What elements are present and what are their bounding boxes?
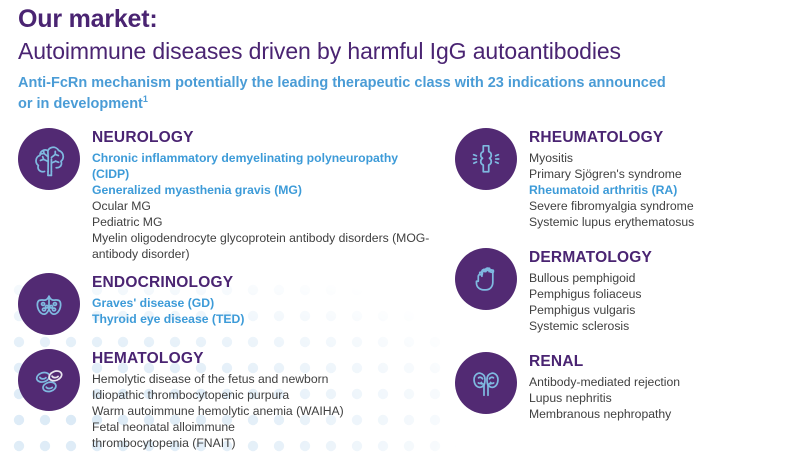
- section-body: ENDOCRINOLOGY Graves' disease (GD) Thyro…: [92, 273, 438, 327]
- page-subtitle-main: Autoimmune diseases driven by harmful Ig…: [18, 37, 788, 67]
- indication-list: Antibody-mediated rejection Lupus nephri…: [529, 374, 795, 422]
- indication-list: Chronic inflammatory demyelinating polyn…: [92, 150, 438, 263]
- section-renal: RENAL Antibody-mediated rejection Lupus …: [455, 352, 795, 422]
- list-item: Idiopathic thrombocytopenic purpura: [92, 387, 438, 403]
- list-item: Lupus nephritis: [529, 390, 795, 406]
- list-item: Ocular MG: [92, 198, 438, 214]
- section-title: NEUROLOGY: [92, 129, 438, 148]
- list-item: Myelin oligodendrocyte glycoprotein anti…: [92, 230, 438, 262]
- section-body: HEMATOLOGY Hemolytic disease of the fetu…: [92, 349, 438, 451]
- section-title: DERMATOLOGY: [529, 249, 795, 268]
- kidneys-icon: [455, 352, 517, 414]
- list-item: Myositis: [529, 150, 795, 166]
- section-title: HEMATOLOGY: [92, 350, 438, 369]
- list-item: Severe fibromyalgia syndrome: [529, 198, 795, 214]
- section-hematology: HEMATOLOGY Hemolytic disease of the fetu…: [18, 349, 438, 451]
- section-rheumatology: RHEUMATOLOGY Myositis Primary Sjögren's …: [455, 128, 795, 230]
- section-dermatology: DERMATOLOGY Bullous pemphigoid Pemphigus…: [455, 248, 795, 334]
- section-neurology: NEUROLOGY Chronic inflammatory demyelina…: [18, 128, 438, 262]
- list-item: Pemphigus vulgaris: [529, 302, 795, 318]
- indication-list: Myositis Primary Sjögren's syndrome Rheu…: [529, 150, 795, 230]
- indication-list: Bullous pemphigoid Pemphigus foliaceus P…: [529, 270, 795, 334]
- list-item: Graves' disease (GD): [92, 295, 438, 311]
- section-body: NEUROLOGY Chronic inflammatory demyelina…: [92, 128, 438, 262]
- list-item: Fetal neonatal alloimmune thrombocytopen…: [92, 419, 332, 451]
- list-item: Hemolytic disease of the fetus and newbo…: [92, 371, 438, 387]
- blood-cells-icon: [18, 349, 80, 411]
- page-title: Our market:: [18, 4, 788, 35]
- section-title: RENAL: [529, 353, 795, 372]
- list-item: Membranous nephropathy: [529, 406, 795, 422]
- list-item: Primary Sjögren's syndrome: [529, 166, 795, 182]
- list-item: Thyroid eye disease (TED): [92, 311, 438, 327]
- page-tagline: Anti-FcRn mechanism potentially the lead…: [18, 74, 678, 113]
- indication-list: Graves' disease (GD) Thyroid eye disease…: [92, 295, 438, 327]
- section-body: RHEUMATOLOGY Myositis Primary Sjögren's …: [529, 128, 795, 230]
- list-item: Generalized myasthenia gravis (MG): [92, 182, 438, 198]
- list-item: Systemic sclerosis: [529, 318, 795, 334]
- indication-list: Hemolytic disease of the fetus and newbo…: [92, 371, 438, 451]
- list-item: Warm autoimmune hemolytic anemia (WAIHA): [92, 403, 438, 419]
- list-item: Rheumatoid arthritis (RA): [529, 182, 795, 198]
- page-tagline-text: Anti-FcRn mechanism potentially the lead…: [18, 75, 666, 111]
- slide-header: Our market: Autoimmune diseases driven b…: [18, 4, 788, 114]
- section-body: DERMATOLOGY Bullous pemphigoid Pemphigus…: [529, 248, 795, 334]
- hand-skin-icon: [455, 248, 517, 310]
- section-body: RENAL Antibody-mediated rejection Lupus …: [529, 352, 795, 422]
- footnote-marker: 1: [143, 94, 148, 104]
- slide-root: Our market: Autoimmune diseases driven b…: [0, 0, 800, 453]
- left-column: NEUROLOGY Chronic inflammatory demyelina…: [18, 128, 438, 451]
- list-item: Bullous pemphigoid: [529, 270, 795, 286]
- section-title: ENDOCRINOLOGY: [92, 274, 438, 293]
- list-item: Chronic inflammatory demyelinating polyn…: [92, 150, 438, 182]
- list-item: Antibody-mediated rejection: [529, 374, 795, 390]
- list-item: Pemphigus foliaceus: [529, 286, 795, 302]
- brain-icon: [18, 128, 80, 190]
- joint-pain-icon: [455, 128, 517, 190]
- thyroid-icon: [18, 273, 80, 335]
- section-endocrinology: ENDOCRINOLOGY Graves' disease (GD) Thyro…: [18, 273, 438, 335]
- list-item: Systemic lupus erythematosus: [529, 214, 795, 230]
- right-column: RHEUMATOLOGY Myositis Primary Sjögren's …: [455, 128, 795, 422]
- section-title: RHEUMATOLOGY: [529, 129, 795, 148]
- list-item: Pediatric MG: [92, 214, 438, 230]
